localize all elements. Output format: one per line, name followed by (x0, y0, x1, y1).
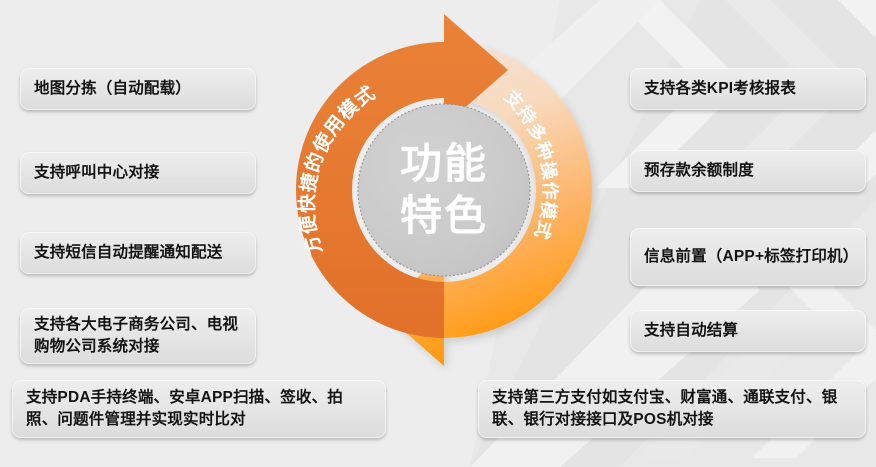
feature-card-call-center[interactable]: 支持呼叫中心对接 (20, 152, 256, 194)
feature-card-label: 预存款余额制度 (644, 160, 754, 182)
feature-card-label: 支持PDA手持终端、安卓APP扫描、签收、拍照、问题件管理并实现实时比对 (26, 387, 372, 432)
feature-card-label: 地图分拣（自动配载） (34, 78, 191, 100)
feature-card-third-party-pay[interactable]: 支持第三方支付如支付宝、财富通、通联支付、银联、银行对接接口及POS机对接 (478, 380, 866, 438)
feature-card-map-sorting[interactable]: 地图分拣（自动配载） (20, 68, 256, 110)
cycle-diagram-svg: 方便快捷的使用模式 支持多种操作模式 (268, 14, 620, 366)
feature-card-label: 支持各类KPI考核报表 (644, 78, 796, 100)
feature-card-info-frontload[interactable]: 信息前置（APP+标签打印机） (630, 228, 866, 286)
feature-card-ecommerce-docking[interactable]: 支持各大电子商务公司、电视购物公司系统对接 (20, 308, 256, 364)
feature-card-pda-terminal[interactable]: 支持PDA手持终端、安卓APP扫描、签收、拍照、问题件管理并实现实时比对 (12, 380, 386, 438)
feature-card-kpi-reports[interactable]: 支持各类KPI考核报表 (630, 68, 866, 110)
feature-card-label: 支持短信自动提醒通知配送 (34, 242, 222, 264)
feature-card-label: 支持自动结算 (644, 320, 738, 342)
feature-card-label: 支持呼叫中心对接 (34, 162, 160, 184)
feature-card-prepaid-balance[interactable]: 预存款余额制度 (630, 150, 866, 192)
feature-card-auto-settlement[interactable]: 支持自动结算 (630, 310, 866, 352)
feature-card-label: 信息前置（APP+标签打印机） (644, 246, 852, 268)
feature-card-sms-reminder[interactable]: 支持短信自动提醒通知配送 (20, 232, 256, 274)
center-circle (358, 104, 530, 276)
cycle-diagram: 方便快捷的使用模式 支持多种操作模式 功能 特色 (268, 14, 620, 366)
feature-card-label: 支持第三方支付如支付宝、财富通、通联支付、银联、银行对接接口及POS机对接 (492, 387, 852, 432)
feature-card-label: 支持各大电子商务公司、电视购物公司系统对接 (34, 314, 242, 359)
